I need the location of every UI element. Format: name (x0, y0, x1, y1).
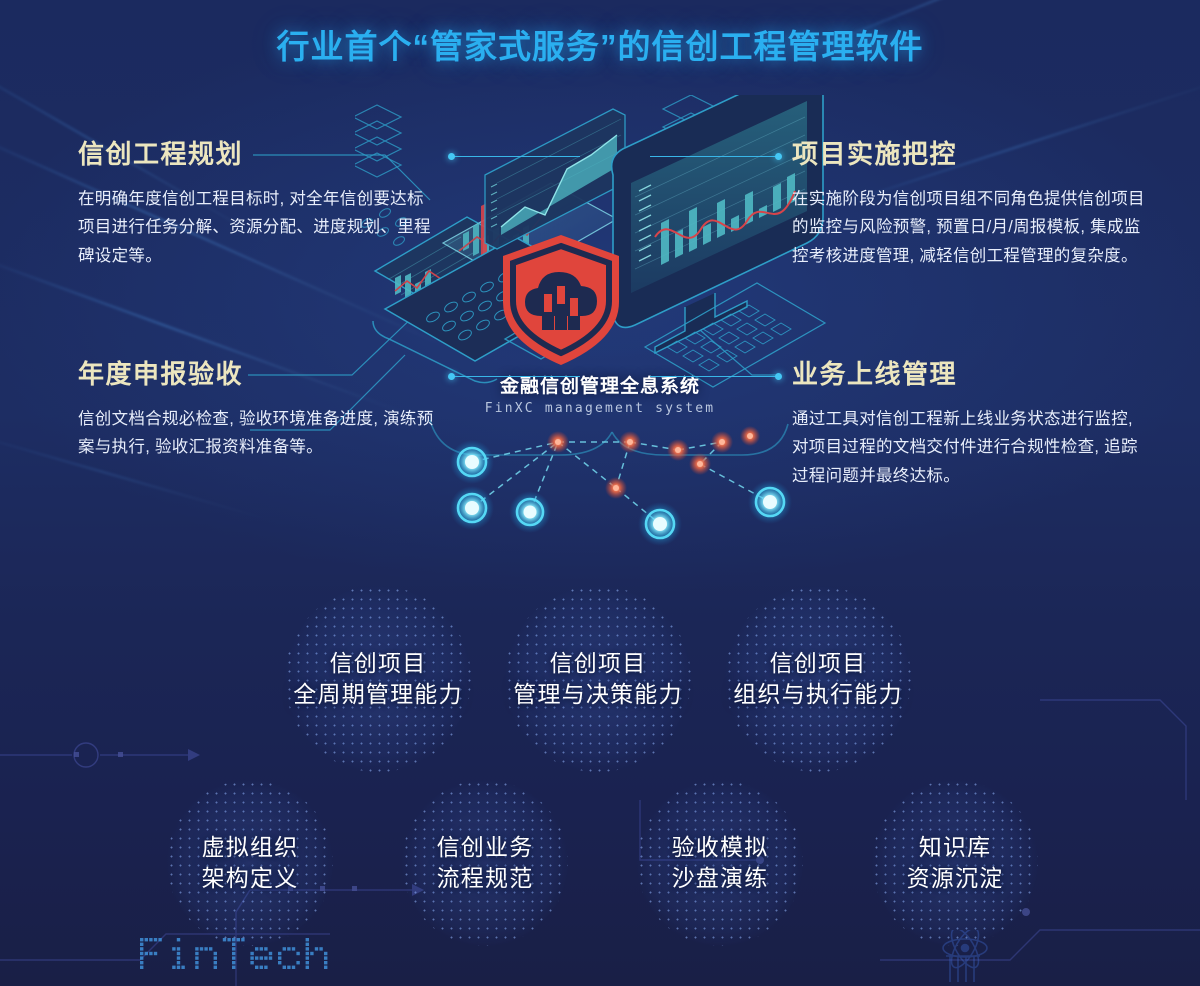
connector-line-annual-acceptance (452, 376, 580, 377)
capability-line1-lifecycle: 信创项目 (330, 648, 427, 679)
feature-body-planning: 在明确年度信创工程目标时, 对全年信创要达标项目进行任务分解、资源分配、进度规划… (78, 185, 438, 270)
capability-sphere-execution: 信创项目 组织与执行能力 (725, 586, 911, 772)
connector-line-planning (452, 156, 580, 157)
feature-heading-implementation: 项目实施把控 (792, 134, 1152, 171)
connector-line-business-launch (650, 376, 778, 377)
capability-line2-sandbox-drill: 沙盘演练 (672, 863, 769, 894)
capability-sphere-virtual-org: 虚拟组织 架构定义 (167, 780, 333, 946)
capability-line1-virtual-org: 虚拟组织 (202, 832, 299, 863)
capability-line2-execution: 组织与执行能力 (733, 679, 902, 710)
feature-heading-planning: 信创工程规划 (78, 134, 438, 171)
feature-block-implementation: 项目实施把控 在实施阶段为信创项目组不同角色提供信创项目的监控与风险预警, 预置… (792, 134, 1152, 270)
capability-line1-execution: 信创项目 (770, 648, 867, 679)
page-title: 行业首个“管家式服务”的信创工程管理软件 (0, 20, 1200, 68)
capability-line2-lifecycle: 全周期管理能力 (293, 679, 462, 710)
connector-line-implementation (650, 156, 778, 157)
capability-line2-decision: 管理与决策能力 (513, 679, 682, 710)
feature-body-implementation: 在实施阶段为信创项目组不同角色提供信创项目的监控与风险预警, 预置日/月/周报模… (792, 185, 1152, 270)
feature-body-annual-acceptance: 信创文档合规必检查, 验收环境准备进度, 演练预案与执行, 验收汇报资料准备等。 (78, 405, 438, 462)
feature-heading-annual-acceptance: 年度申报验收 (78, 354, 438, 391)
node-network-diagram (430, 420, 830, 560)
junction-dot-group (547, 426, 760, 499)
feature-block-planning: 信创工程规划 在明确年度信创工程目标时, 对全年信创要达标项目进行任务分解、资源… (78, 134, 438, 270)
shield-cloud-chart-icon (497, 232, 625, 368)
infographic-canvas: 行业首个“管家式服务”的信创工程管理软件 (0, 0, 1200, 986)
capability-sphere-knowledge-base: 知识库 资源沉淀 (872, 780, 1038, 946)
capability-line1-sandbox-drill: 验收模拟 (672, 832, 769, 863)
capability-line1-decision: 信创项目 (550, 648, 647, 679)
capability-line2-process-spec: 流程规范 (437, 863, 534, 894)
feature-body-business-launch: 通过工具对信创工程新上线业务状态进行监控, 对项目过程的文档交付件进行合规性检查… (792, 405, 1152, 490)
feature-block-annual-acceptance: 年度申报验收 信创文档合规必检查, 验收环境准备进度, 演练预案与执行, 验收汇… (78, 354, 438, 462)
capability-sphere-lifecycle: 信创项目 全周期管理能力 (285, 586, 471, 772)
capability-sphere-sandbox-drill: 验收模拟 沙盘演练 (637, 780, 803, 946)
feature-block-business-launch: 业务上线管理 通过工具对信创工程新上线业务状态进行监控, 对项目过程的文档交付件… (792, 354, 1152, 490)
capability-sphere-process-spec: 信创业务 流程规范 (402, 780, 568, 946)
atom-icon (920, 930, 1010, 986)
capability-line1-knowledge-base: 知识库 (919, 832, 992, 863)
capability-sphere-decision: 信创项目 管理与决策能力 (505, 586, 691, 772)
capability-line2-knowledge-base: 资源沉淀 (907, 863, 1004, 894)
fintech-watermark: FinTech (140, 930, 340, 976)
capability-line2-virtual-org: 架构定义 (202, 863, 299, 894)
feature-heading-business-launch: 业务上线管理 (792, 354, 1152, 391)
capability-line1-process-spec: 信创业务 (437, 832, 534, 863)
